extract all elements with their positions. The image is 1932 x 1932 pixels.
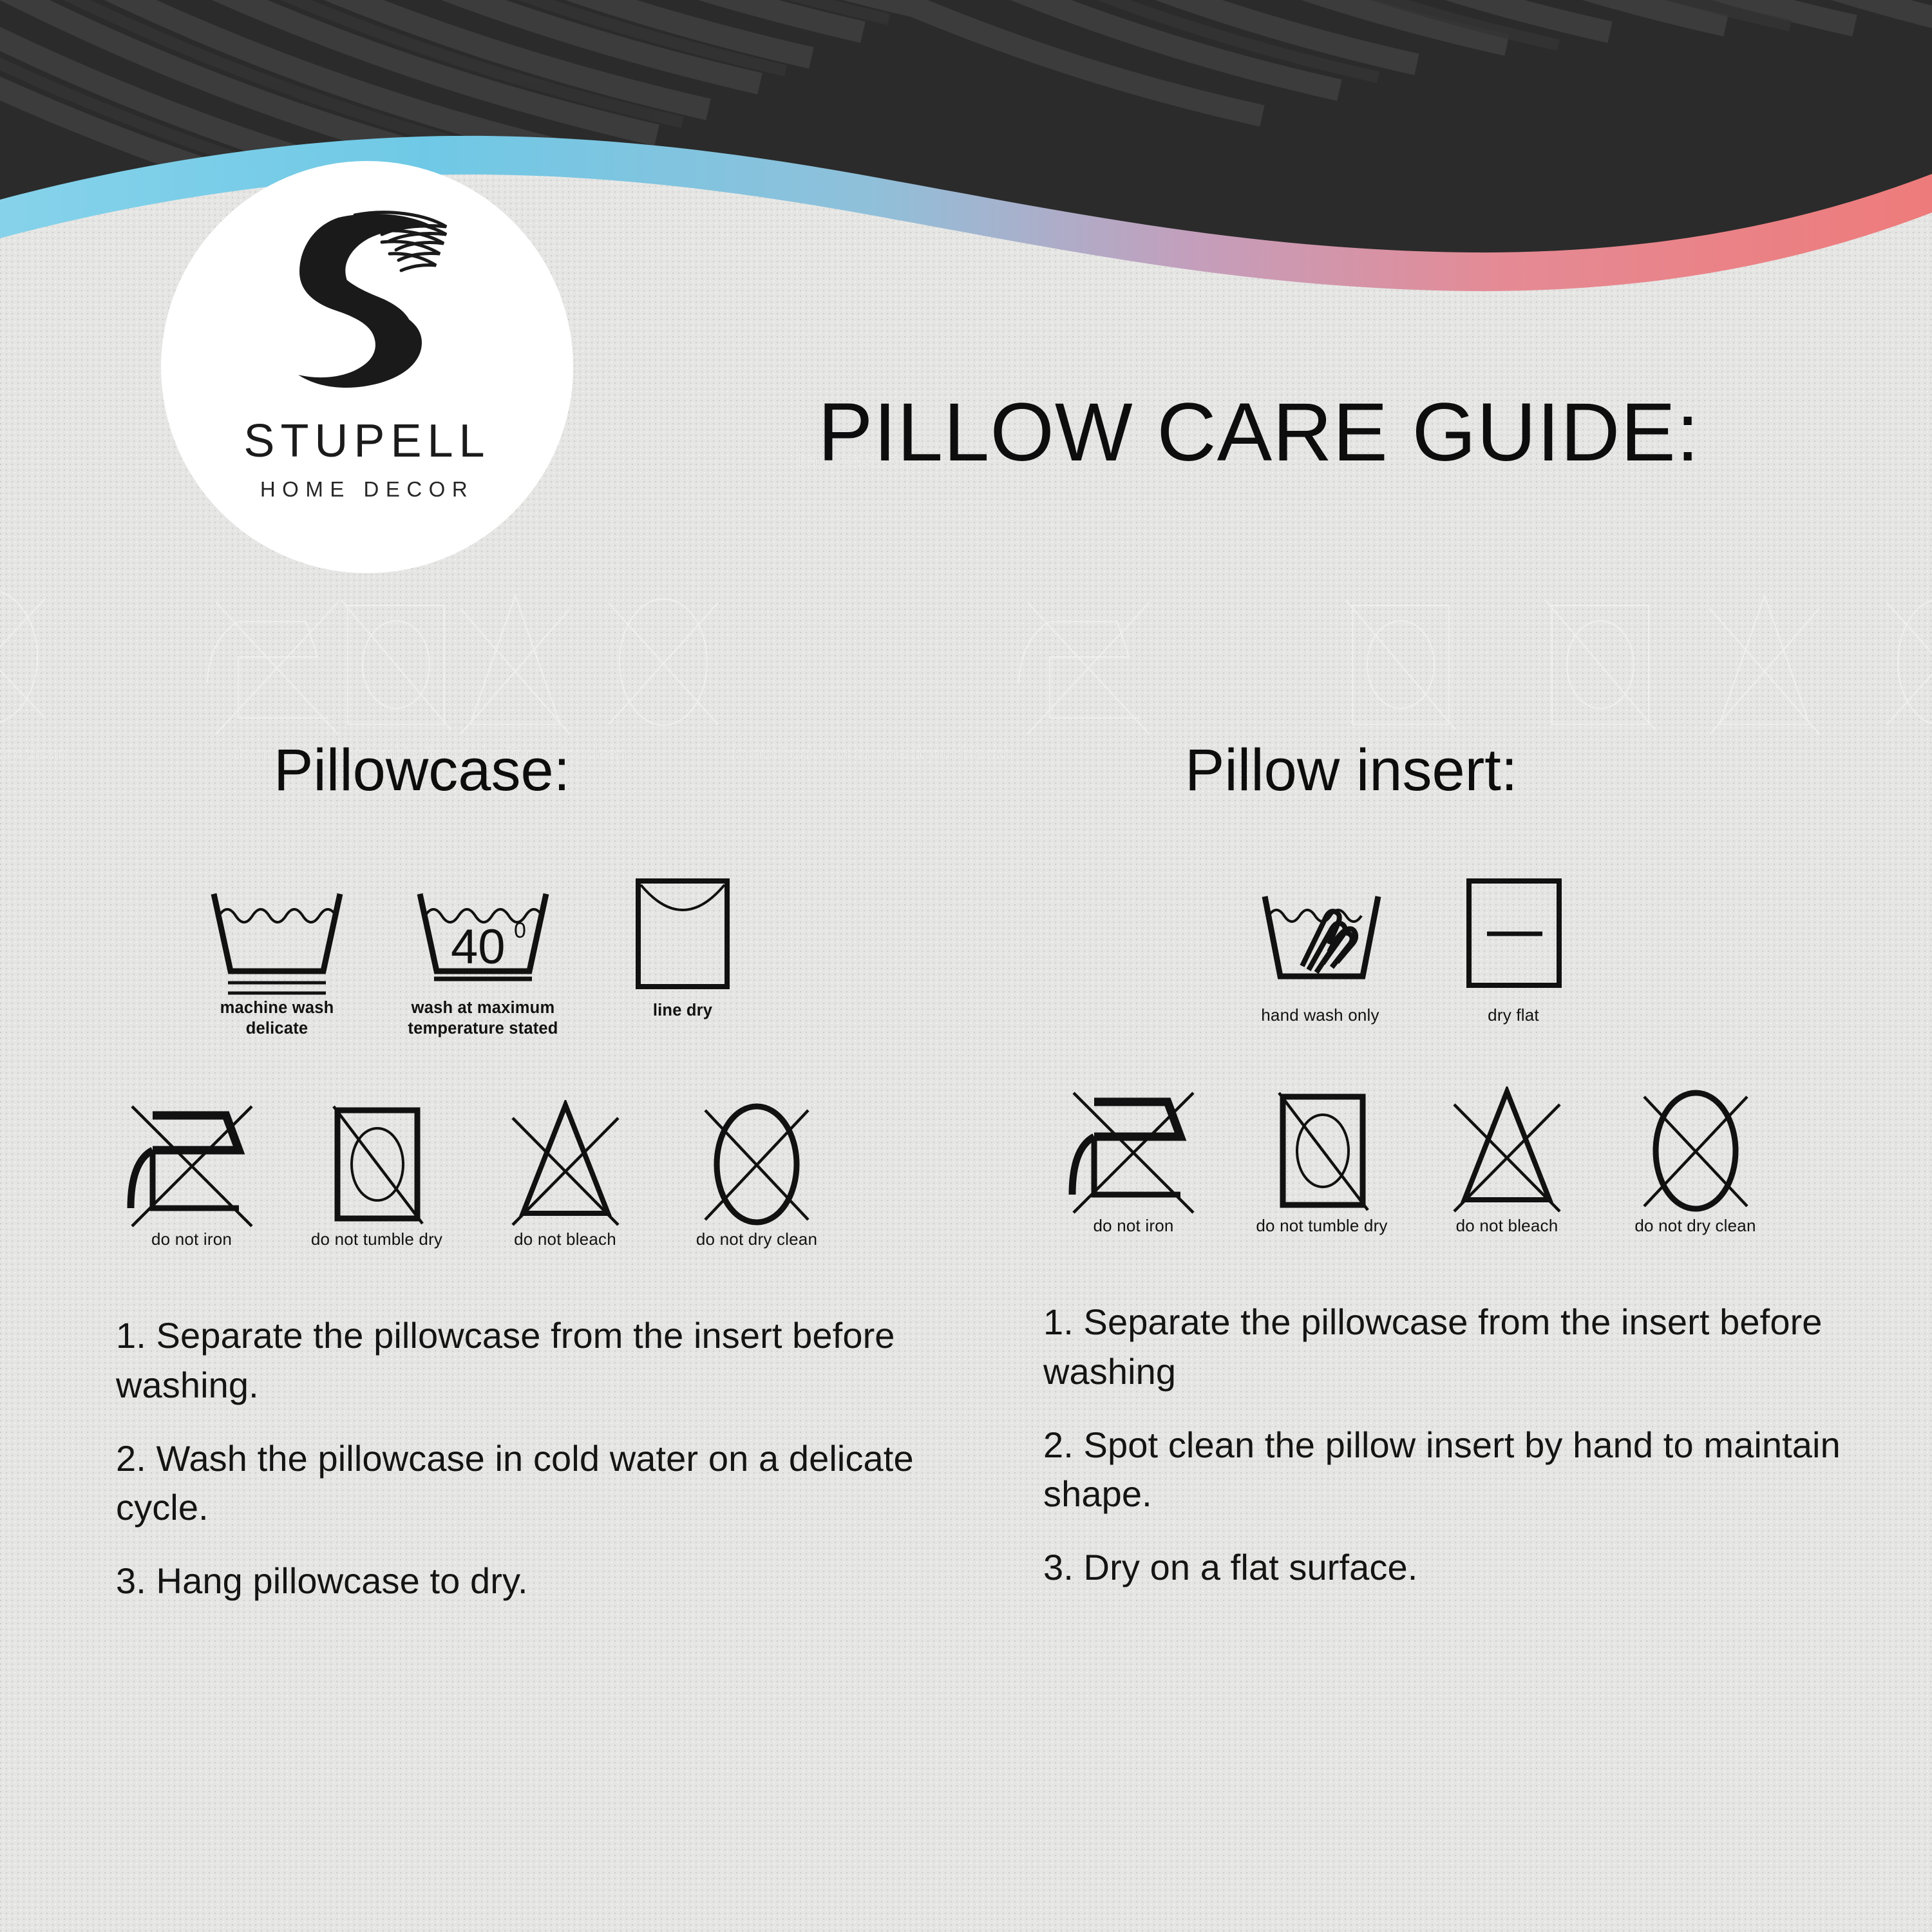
- wash-tub-40-degrees-icon: 40 0: [406, 882, 560, 998]
- care-symbol-label: do not iron: [1093, 1215, 1173, 1236]
- care-symbol-label: do not tumble dry: [1256, 1215, 1387, 1236]
- column-heading-pillow-insert: Pillow insert:: [1185, 741, 1906, 800]
- symbol-row-prohibitions: do not iron do not tumble dry: [103, 1090, 960, 1249]
- care-symbol-machine-wash-delicate: machine wash delicate: [180, 876, 374, 1039]
- instruction-list-pillow-insert: 1. Separate the pillowcase from the inse…: [1043, 1298, 1874, 1592]
- care-symbol-line-dry: line dry: [592, 876, 773, 1021]
- care-symbol-do-not-tumble-dry: do not tumble dry: [1224, 1077, 1420, 1236]
- brand-logo-badge: STUPELL HOME DECOR: [161, 161, 573, 573]
- care-symbol-label: do not dry clean: [696, 1229, 817, 1249]
- instruction-list-pillowcase: 1. Separate the pillowcase from the inse…: [116, 1311, 953, 1605]
- care-symbol-label: do not dry clean: [1634, 1215, 1756, 1236]
- care-symbol-label: hand wash only: [1261, 1005, 1379, 1025]
- care-symbol-do-not-bleach: do not bleach: [1420, 1077, 1594, 1236]
- care-symbol-do-not-bleach: do not bleach: [473, 1090, 657, 1249]
- hand-wash-only-icon: [1249, 882, 1391, 998]
- do-not-tumble-dry-icon: [1261, 1086, 1383, 1215]
- care-symbol-label: do not iron: [151, 1229, 232, 1249]
- symbol-row-prohibitions: do not iron do not tumble dry: [1043, 1077, 1906, 1236]
- stupell-swoosh-s-logo-icon: [261, 200, 473, 415]
- care-symbol-hand-wash-only: hand wash only: [1224, 876, 1417, 1025]
- dry-flat-icon: [1459, 876, 1568, 992]
- care-symbol-wash-40-degrees: 40 0 wash at maximum temperature stated: [374, 876, 592, 1039]
- symbol-row-wash: hand wash only dry flat: [1224, 876, 1906, 1025]
- care-symbol-dry-flat: dry flat: [1417, 876, 1610, 1025]
- care-symbol-label: dry flat: [1488, 1005, 1539, 1025]
- instruction-step: 3. Dry on a flat surface.: [1043, 1543, 1874, 1592]
- symbol-row-wash: machine wash delicate 40 0: [180, 876, 960, 1039]
- care-symbol-label: line dry: [653, 1001, 712, 1021]
- symbol-grid-pillow-insert: hand wash only dry flat: [1043, 876, 1906, 1236]
- care-symbol-label: do not tumble dry: [311, 1229, 442, 1249]
- page-title: PILLOW CARE GUIDE:: [818, 385, 1700, 480]
- column-pillow-insert: Pillow insert:: [1043, 741, 1906, 1616]
- do-not-dry-clean-icon: [1631, 1086, 1760, 1215]
- instruction-step: 2. Spot clean the pillow insert by hand …: [1043, 1421, 1874, 1519]
- instruction-step: 1. Separate the pillowcase from the inse…: [116, 1311, 953, 1409]
- svg-text:40: 40: [451, 920, 506, 974]
- care-symbol-label: wash at maximum temperature stated: [408, 998, 558, 1039]
- instruction-step: 1. Separate the pillowcase from the inse…: [1043, 1298, 1874, 1396]
- do-not-bleach-icon: [1443, 1086, 1571, 1215]
- brand-tagline: HOME DECOR: [260, 478, 474, 500]
- do-not-bleach-icon: [501, 1100, 630, 1229]
- brand-name: STUPELL: [243, 418, 490, 464]
- care-symbol-do-not-dry-clean: do not dry clean: [1594, 1077, 1797, 1236]
- care-symbol-label: machine wash delicate: [220, 998, 334, 1039]
- care-symbol-label: do not bleach: [514, 1229, 616, 1249]
- care-symbol-do-not-dry-clean: do not dry clean: [657, 1090, 857, 1249]
- line-dry-icon: [628, 876, 737, 992]
- care-symbol-label: do not bleach: [1456, 1215, 1558, 1236]
- column-pillowcase: Pillowcase:: [103, 741, 960, 1630]
- care-symbol-do-not-iron: do not iron: [1043, 1077, 1224, 1236]
- care-symbol-do-not-iron: do not iron: [103, 1090, 280, 1249]
- care-symbol-do-not-tumble-dry: do not tumble dry: [280, 1090, 473, 1249]
- do-not-dry-clean-icon: [692, 1100, 821, 1229]
- instruction-step: 2. Wash the pillowcase in cold water on …: [116, 1434, 953, 1532]
- do-not-iron-icon: [124, 1100, 260, 1229]
- do-not-tumble-dry-icon: [316, 1100, 438, 1229]
- wash-tub-delicate-icon: [200, 882, 354, 998]
- do-not-iron-icon: [1066, 1086, 1201, 1215]
- column-heading-pillowcase: Pillowcase:: [274, 741, 960, 800]
- symbol-grid-pillowcase: machine wash delicate 40 0: [103, 876, 960, 1249]
- instruction-step: 3. Hang pillowcase to dry.: [116, 1557, 953, 1605]
- svg-text:0: 0: [514, 918, 526, 943]
